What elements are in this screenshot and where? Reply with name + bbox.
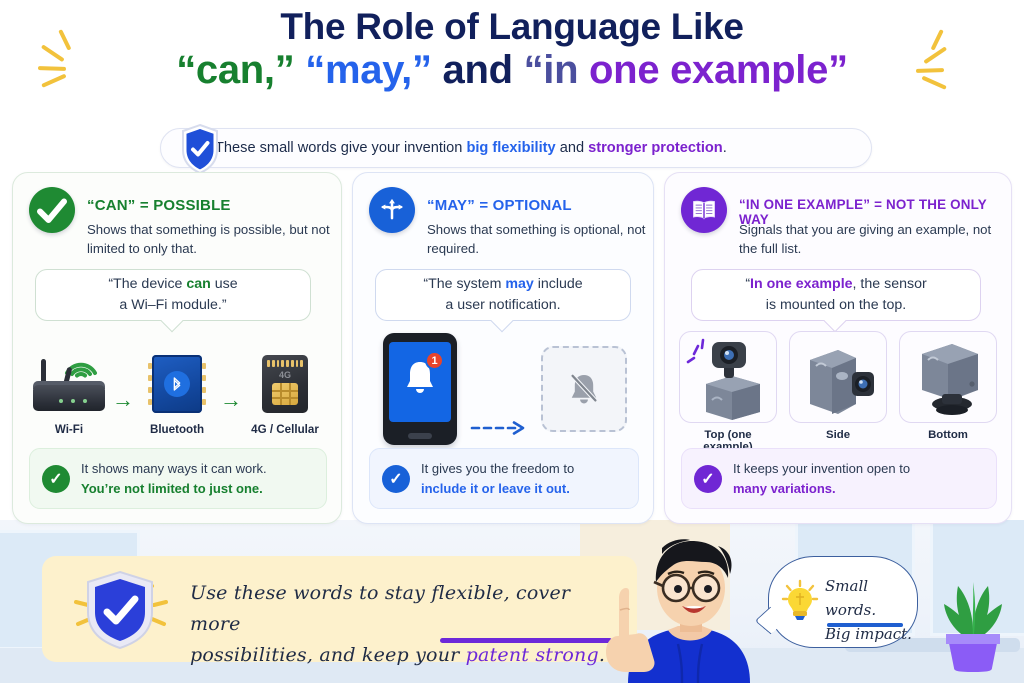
subtitle-banner: These small words give your invention bi… — [160, 128, 872, 168]
shield-check-icon — [180, 123, 220, 175]
speech-line-1: Small words. — [825, 577, 876, 619]
title-word-and: and — [443, 48, 513, 92]
quote-bubble: “In one example, the sensor is mounted o… — [691, 269, 981, 321]
lightbulb-icon — [781, 579, 819, 623]
camera-side-mount-icon — [789, 331, 887, 423]
device-chain: Wi-Fi → — [13, 337, 341, 436]
quote-keyword: can — [186, 276, 210, 292]
summary-line-2-prefix: possibilities, and keep your — [190, 644, 466, 666]
bell-off-icon — [532, 333, 636, 445]
speech-line-2: Big impact. — [825, 625, 912, 643]
subtitle-highlight-flexibility: big flexibility — [466, 140, 555, 156]
dashed-arrow-icon — [470, 419, 532, 437]
speech-bubble: Small words. Big impact. — [768, 556, 918, 648]
camera-top-mount-icon — [679, 331, 777, 423]
quote-prefix: “The system — [423, 276, 505, 292]
device-label: Wi-Fi — [26, 423, 112, 436]
sim-label: 4G — [258, 370, 312, 380]
note-text: It keeps your invention open to many var… — [733, 459, 910, 498]
device-item: 4G 4G / Cellular — [242, 337, 328, 436]
sensor-view-item: Top (one example) — [679, 331, 777, 453]
note-text: It shows many ways it can work. You’re n… — [81, 459, 267, 498]
summary-highlight: patent strong — [466, 644, 599, 666]
notification-badge: 1 — [425, 351, 444, 370]
arrow-right-icon: → — [220, 387, 242, 413]
phone-bell-icon: 1 — [370, 333, 470, 445]
card-note: ✓ It gives you the freedom to include it… — [369, 448, 639, 509]
note-line-1: It shows many ways it can work. — [81, 461, 267, 476]
check-circle-icon — [29, 187, 75, 233]
device-item: 1 With notification — [370, 333, 470, 464]
quote-bubble: “The system may include a user notificat… — [375, 269, 631, 321]
card-heading: “CAN” = POSSIBLE — [87, 197, 231, 214]
device-item: Wi-Fi — [26, 337, 112, 436]
device-label: 4G / Cellular — [242, 423, 328, 436]
sensor-view-label: Bottom — [899, 429, 997, 441]
card-in-one-example[interactable]: “IN ONE EXAMPLE” = NOT THE ONLY WAY Sign… — [664, 172, 1012, 524]
check-circle-icon: ✓ — [382, 465, 410, 493]
bluetooth-chip-icon — [134, 337, 220, 417]
card-description: Shows that something is optional, not re… — [427, 221, 653, 258]
quote-suffix: use — [211, 276, 238, 292]
subtitle-part-2: and — [556, 140, 588, 156]
card-can[interactable]: “CAN” = POSSIBLE Shows that something is… — [12, 172, 342, 524]
speech-underline-accent — [827, 623, 903, 627]
summary-text: Use these words to stay flexible, cover … — [190, 578, 620, 670]
shield-check-icon — [84, 570, 156, 650]
check-circle-icon: ✓ — [42, 465, 70, 493]
quote-prefix: “The device — [108, 276, 186, 292]
note-line-1: It keeps your invention open to — [733, 461, 910, 476]
subtitle-part-3: . — [723, 140, 727, 156]
quote-suffix: , the sensor — [853, 276, 927, 292]
device-item: Bluetooth — [134, 337, 220, 436]
cards-row: “CAN” = POSSIBLE Shows that something is… — [0, 172, 1024, 530]
note-line-2: include it or leave it out. — [421, 481, 570, 496]
card-description: Signals that you are giving an example, … — [739, 221, 1007, 258]
page-title: The Role of Language Like “can,” “may,” … — [0, 6, 1024, 95]
speech-text: Small words. Big impact. — [825, 574, 917, 646]
title-quote-open: “ — [524, 48, 544, 92]
card-note: ✓ It shows many ways it can work. You’re… — [29, 448, 327, 509]
quote-suffix: include — [534, 276, 583, 292]
note-text: It gives you the freedom to include it o… — [421, 459, 574, 498]
note-line-2: many variations. — [733, 481, 836, 496]
subtitle-highlight-protection: stronger protection — [588, 140, 723, 156]
device-label: Bluetooth — [134, 423, 220, 436]
title-line-1: The Role of Language Like — [0, 6, 1024, 47]
quote-keyword: In one example — [750, 276, 853, 292]
subtitle-part-1: These small words give your invention — [215, 140, 466, 156]
fork-arrows-icon — [369, 187, 415, 233]
card-heading: “MAY” = OPTIONAL — [427, 197, 572, 214]
sensor-view-item: Bottom — [899, 331, 997, 453]
summary-banner: Use these words to stay flexible, cover … — [42, 556, 637, 662]
sensor-views: Top (one example) — [665, 331, 1011, 453]
open-book-icon — [681, 187, 727, 233]
note-line-2: You’re not limited to just one. — [81, 481, 263, 496]
title-word-may: “may,” — [305, 48, 431, 92]
arrow-right-icon: → — [112, 387, 134, 413]
camera-bottom-mount-icon — [899, 331, 997, 423]
quote-keyword: may — [505, 276, 533, 292]
wifi-router-icon — [26, 337, 112, 417]
sim-card-icon: 4G — [242, 337, 328, 417]
title-line-2: “can,” “may,” and “in one example” — [0, 47, 1024, 94]
check-circle-icon: ✓ — [694, 465, 722, 493]
note-line-1: It gives you the freedom to — [421, 461, 574, 476]
sensor-view-label: Side — [789, 429, 887, 441]
summary-line-1: Use these words to stay flexible, cover … — [190, 582, 570, 635]
quote-bubble: “The device can use a Wi–Fi module.” — [35, 269, 311, 321]
potted-plant-illustration — [930, 568, 1016, 674]
underline-accent — [440, 638, 612, 643]
subtitle-text: These small words give your invention bi… — [215, 140, 727, 156]
title-word-in: in — [543, 48, 578, 92]
card-note: ✓ It keeps your invention open to many v… — [681, 448, 997, 509]
sensor-view-item: Side — [789, 331, 887, 453]
title-word-can: “can,” — [176, 48, 294, 92]
card-description: Shows that something is possible, but no… — [87, 221, 333, 258]
card-may[interactable]: “MAY” = OPTIONAL Shows that something is… — [352, 172, 654, 524]
title-words-one-example: one example” — [589, 48, 848, 92]
